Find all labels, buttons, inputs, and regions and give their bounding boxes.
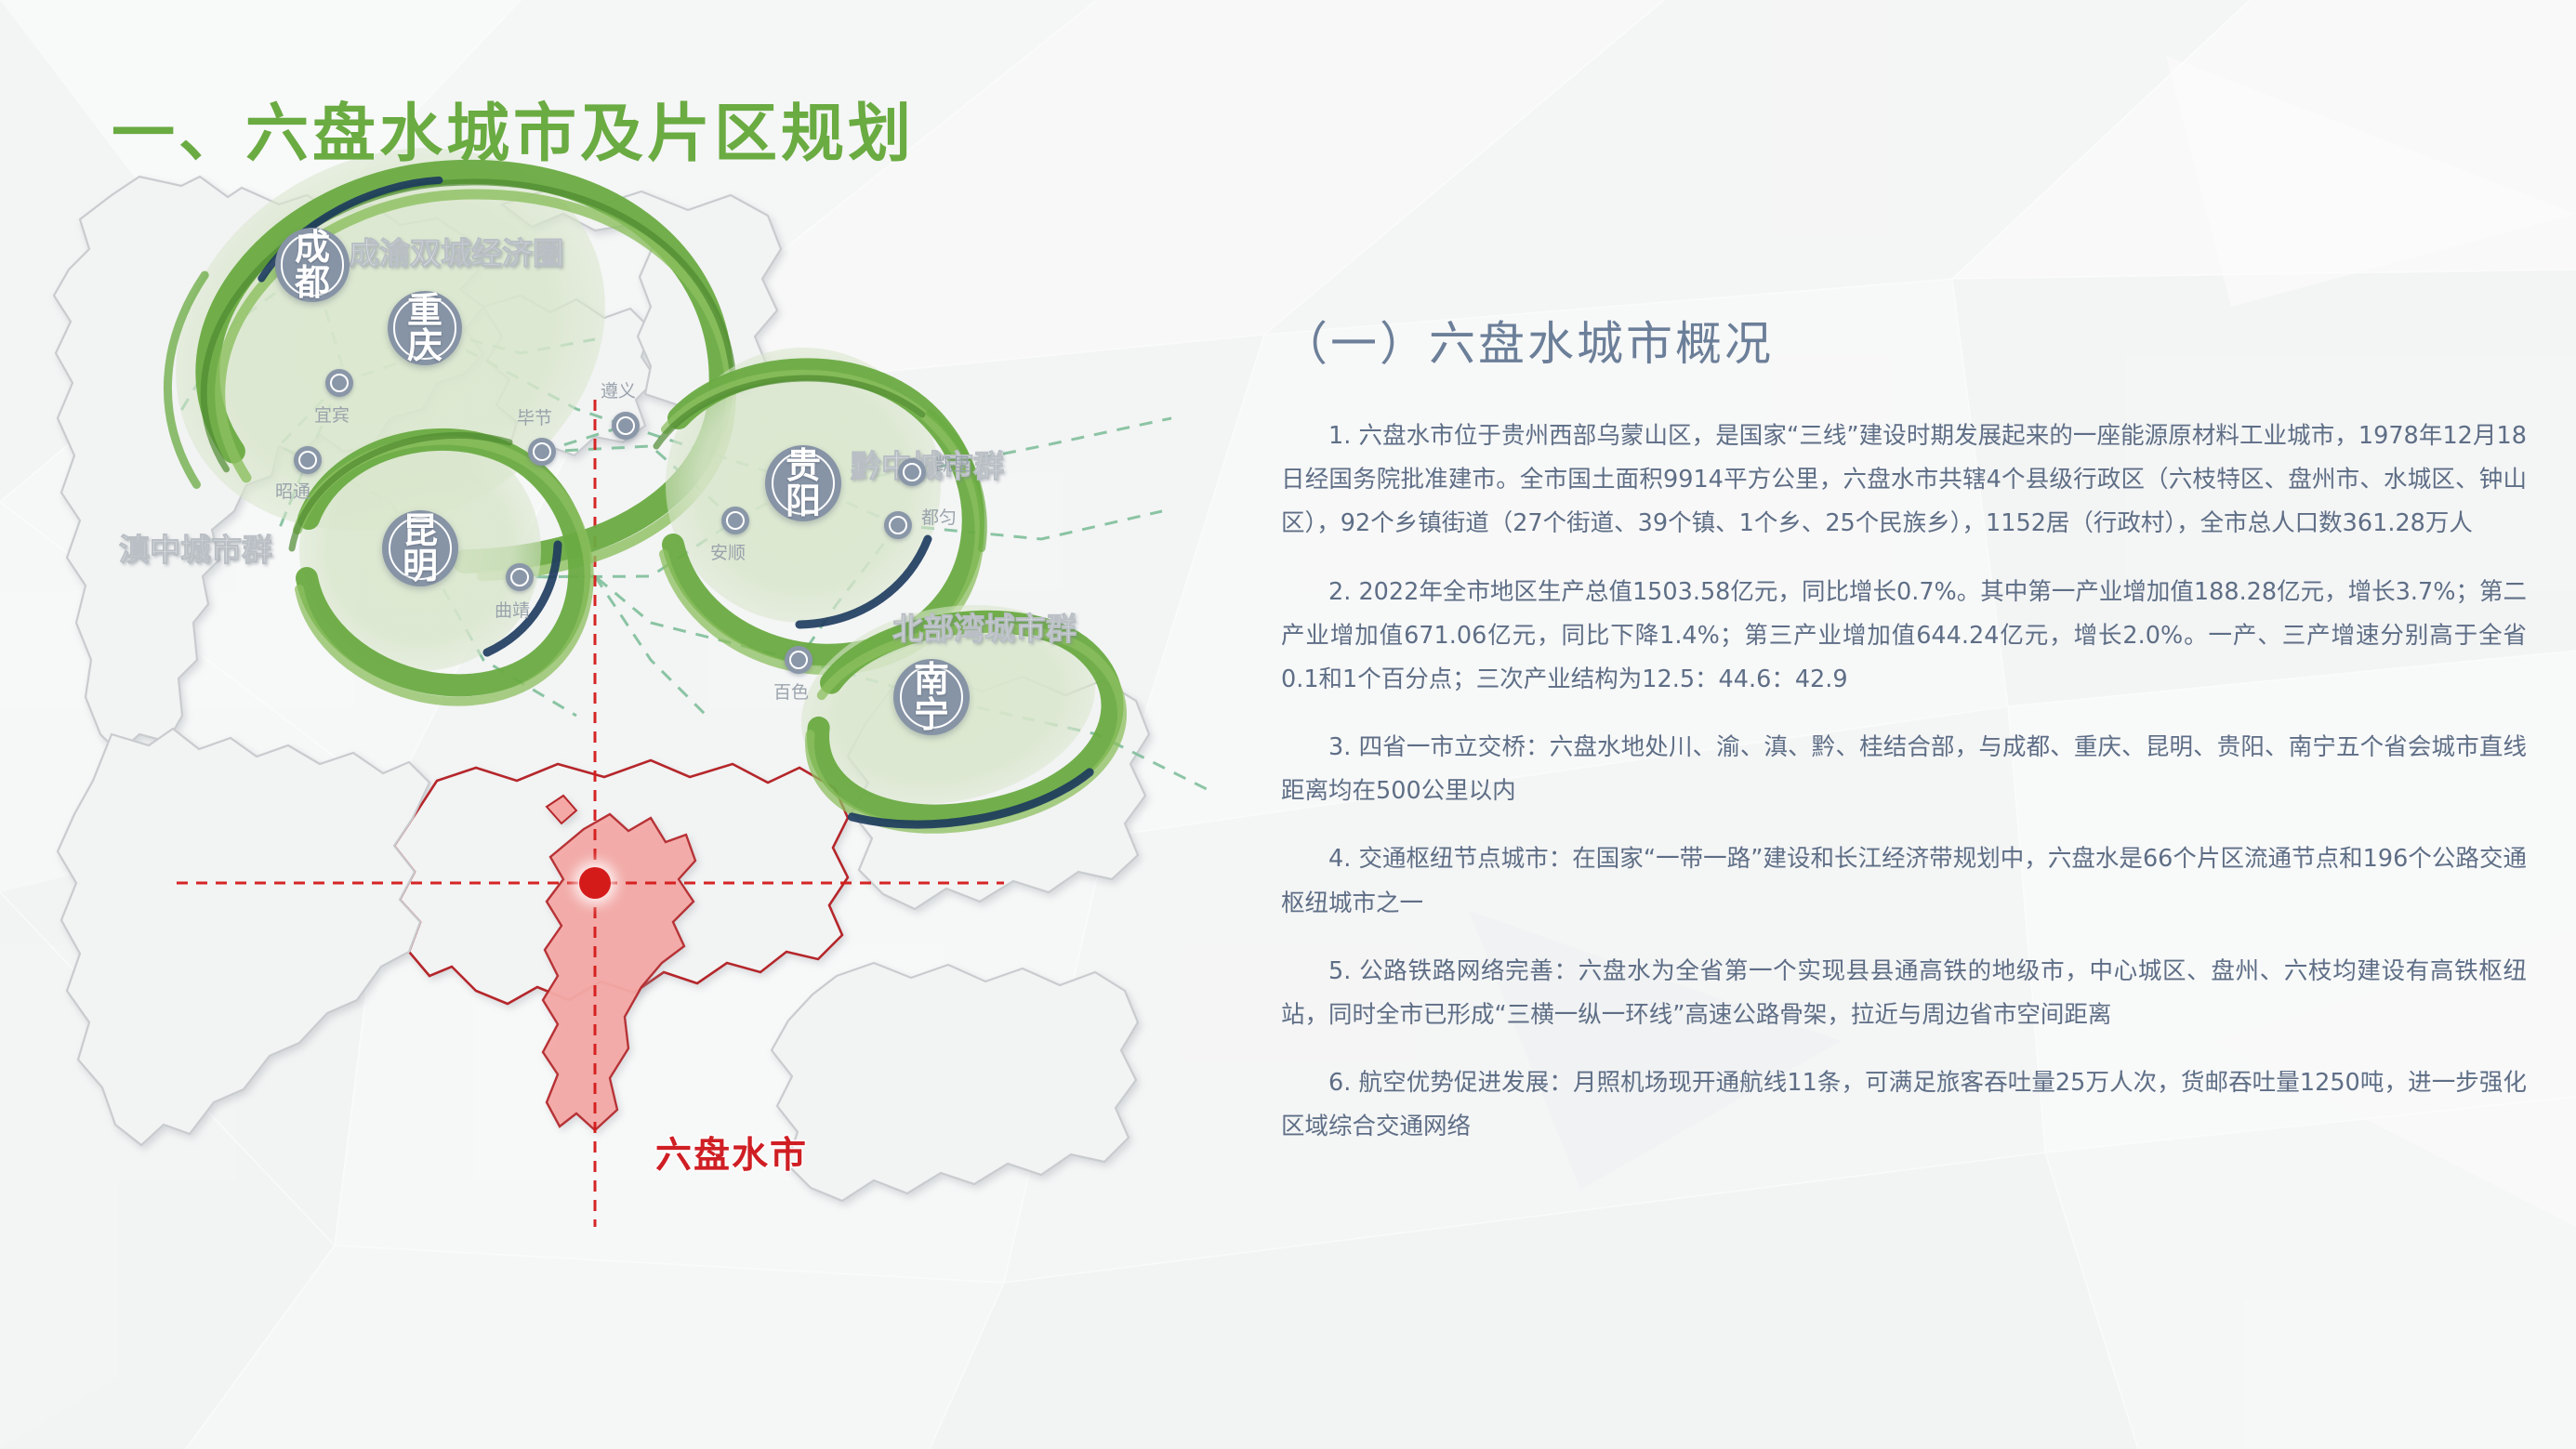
city-marker-kunming[interactable]: 昆明 bbox=[382, 510, 458, 586]
page-title: 一、六盘水城市及片区规划 bbox=[112, 82, 915, 174]
section-heading: （一）六盘水城市概况 bbox=[1281, 307, 2527, 374]
city-label: 贵阳 bbox=[782, 448, 825, 519]
node-marker-kaili[interactable] bbox=[898, 458, 926, 486]
city-marker-chengdu[interactable]: 成都 bbox=[275, 228, 350, 302]
city-marker-guiyang[interactable]: 贵阳 bbox=[765, 445, 841, 521]
node-marker-qujing[interactable] bbox=[506, 563, 534, 591]
city-marker-chongqing[interactable]: 重庆 bbox=[388, 291, 462, 365]
node-marker-zhaotong[interactable] bbox=[294, 446, 322, 474]
cluster-label-dianzhong: 滇中城市群 bbox=[119, 525, 272, 570]
cluster-label-chengyu: 成渝双城经济圈 bbox=[349, 229, 563, 273]
overview-paragraph-5: 5. 公路铁路网络完善：六盘水为全省第一个实现县县通高铁的地级市，中心城区、盘州… bbox=[1281, 950, 2527, 1037]
overview-paragraph-3: 3. 四省一市立交桥：六盘水地处川、渝、滇、黔、桂结合部，与成都、重庆、昆明、贵… bbox=[1281, 726, 2527, 813]
city-label: 重庆 bbox=[403, 293, 446, 363]
node-marker-zunyi[interactable] bbox=[612, 412, 640, 440]
node-label-bijie: 毕节 bbox=[517, 404, 552, 429]
cluster-label-beibuwan: 北部湾城市群 bbox=[892, 604, 1077, 649]
node-marker-anshun[interactable] bbox=[721, 507, 749, 534]
node-marker-baise[interactable] bbox=[785, 646, 812, 674]
overview-paragraph-6: 6. 航空优势促进发展：月照机场现开通航线11条，可满足旅客吞吐量25万人次，货… bbox=[1281, 1061, 2527, 1149]
city-marker-nanning[interactable]: 南宁 bbox=[893, 659, 970, 735]
node-marker-duyun[interactable] bbox=[884, 511, 912, 539]
liupanshui-label: 六盘水市 bbox=[655, 1126, 808, 1179]
node-marker-yibin[interactable] bbox=[325, 369, 353, 397]
overview-paragraph-4: 4. 交通枢纽节点城市：在国家“一带一路”建设和长江经济带规划中，六盘水是66个… bbox=[1281, 837, 2527, 925]
overview-paragraph-1: 1. 六盘水市位于贵州西部乌蒙山区，是国家“三线”建设时期发展起来的一座能源原材… bbox=[1281, 415, 2527, 547]
node-label-qujing: 曲靖 bbox=[495, 597, 530, 622]
map-svg bbox=[0, 139, 1301, 1449]
cluster-label-qianzhong: 黔中城市群 bbox=[851, 441, 1004, 486]
node-label-duyun: 都匀 bbox=[921, 504, 957, 529]
city-label: 昆明 bbox=[399, 513, 442, 584]
overview-text-column: （一）六盘水城市概况 1. 六盘水市位于贵州西部乌蒙山区，是国家“三线”建设时期… bbox=[1281, 307, 2527, 1173]
node-label-zunyi: 遵义 bbox=[601, 377, 636, 402]
liupanshui-center-dot bbox=[579, 867, 611, 899]
node-label-yibin: 宜宾 bbox=[314, 402, 350, 427]
city-label: 成都 bbox=[291, 230, 334, 300]
node-label-anshun: 安顺 bbox=[710, 539, 746, 564]
overview-paragraph-2: 2. 2022年全市地区生产总值1503.58亿元，同比增长0.7%。其中第一产… bbox=[1281, 571, 2527, 703]
node-marker-bijie[interactable] bbox=[528, 438, 556, 466]
city-label: 南宁 bbox=[910, 662, 953, 732]
node-label-zhaotong: 昭通 bbox=[275, 478, 310, 503]
node-label-baise: 百色 bbox=[773, 678, 809, 704]
node-label-kaili: 凯里 bbox=[935, 451, 971, 476]
regional-map: 成渝双城经济圈 黔中城市群 滇中城市群 北部湾城市群 成都 重庆 贵阳 昆明 南… bbox=[0, 139, 1301, 1449]
